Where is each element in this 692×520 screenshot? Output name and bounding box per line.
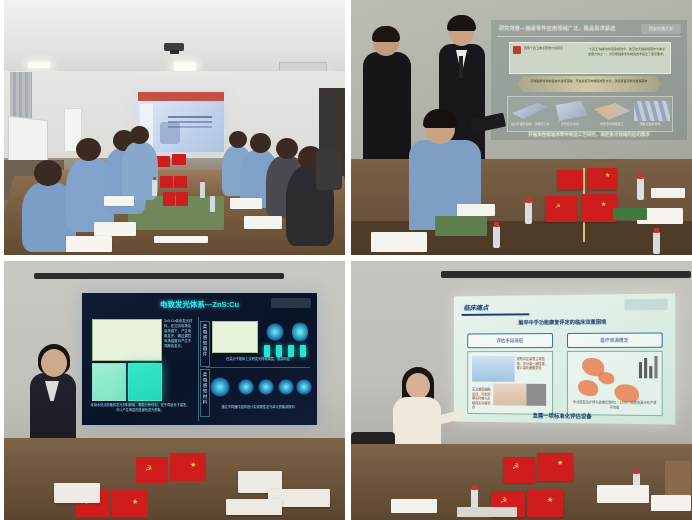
paper-document [457, 204, 495, 216]
slide-footer: 急需一项标准化评估设备 [454, 411, 675, 422]
university-logo: 西安交通大学 [641, 24, 681, 34]
screen-text-lines [168, 116, 212, 118]
star-icon: ★ [601, 202, 606, 208]
photo-top-left [4, 0, 345, 255]
paper-document [391, 499, 437, 513]
national-flag: ★ [170, 453, 206, 481]
spectrum-chart [92, 319, 162, 361]
projected-slide: 电致发光体系—ZnS:Cu ZnS:Cu体系发光材料，在交流电场及高场强下，产生… [82, 293, 317, 425]
national-flag: ★ [587, 168, 617, 190]
hair [447, 15, 476, 31]
paper-document [651, 188, 685, 198]
slide-panel-left: 现有评定量表主观性强，评分者一致性差，难以量化细微变化 无法捕捉细微运动，评定周… [467, 351, 553, 415]
emission-bar [300, 345, 306, 357]
paper-document [104, 196, 134, 206]
callout-title: 国家十四五重点研发计划项目 [524, 46, 563, 50]
slide-title: 研究背景—轴承零件应用领域广泛，极品需求紧迫 [499, 25, 616, 32]
luminescence-image-5khz [128, 363, 162, 401]
slide-tab-left: 评估手段滞后 [467, 333, 553, 348]
header-underline [462, 313, 530, 316]
university-logo [625, 299, 668, 311]
part-image [594, 101, 630, 121]
screen-figure [160, 122, 180, 144]
bar-chart-bar [644, 358, 647, 378]
map-region [578, 380, 598, 396]
part-image [512, 101, 548, 121]
part-image [552, 101, 588, 121]
water-bottle [493, 226, 500, 248]
slide-subtitle: 脑卒中手功能康复评定的临床双重困境 [454, 318, 675, 327]
desk-flag [156, 156, 170, 167]
emblem-icon [513, 46, 521, 54]
party-flag [557, 170, 583, 190]
ceiling-projector [164, 43, 184, 51]
slide-left-caption: 采用水热法制备的发光材料粉体，颗粒分布均匀，在不同波长下激发，可以产生明显的蓝绿… [90, 403, 190, 413]
necktie [459, 56, 463, 78]
party-flag: ☭ [503, 457, 535, 483]
water-bottle [200, 182, 205, 198]
paper-document [244, 216, 282, 229]
paper-document [154, 236, 208, 243]
panel-note-bottom: 无法捕捉细微运动，评定周期长时难以反映真实功能状态 [472, 387, 493, 410]
national-flag: ★ [112, 489, 148, 517]
paper-document [230, 198, 262, 209]
slide-footer: 开展高性能轴承零件制造工艺研究，满足重点领域的迫切需求 [501, 132, 677, 138]
water-bottle [525, 202, 532, 224]
screen-rail [34, 273, 284, 279]
university-logo [271, 298, 311, 308]
national-flag: ★ [581, 194, 617, 222]
clinical-illustration [472, 356, 515, 382]
hammer-sickle-icon: ☭ [512, 464, 519, 470]
desk-flag [160, 176, 173, 188]
party-flag: ☭ [136, 457, 168, 483]
blouse-collar [45, 381, 59, 401]
callout-text: “十四五”轴承零件装备规划中，航空航天轴承用钢作为重点发展方向之一，对高端轴承零… [588, 47, 666, 57]
bar-chart-bar [639, 362, 642, 378]
glow-ring [238, 379, 254, 395]
hand-photo [493, 384, 526, 406]
hammer-sickle-icon: ☭ [500, 498, 507, 504]
desk-flag [174, 176, 187, 188]
emission-bar [276, 345, 282, 357]
panel-note-top: 现有评定量表主观性强，评分者一致性差，难以量化细微变化 [517, 357, 548, 371]
title-rule [497, 36, 681, 37]
slide-right-caption-top: 在高分子基体上沉积发光材料薄层，提高响应 [206, 357, 310, 362]
desk-flag-cluster [154, 152, 198, 208]
paper-document [371, 232, 427, 252]
part-image [634, 101, 670, 121]
photo-bottom-right: 临床痛点 脑卒中手功能康复评定的临床双重困境 评估手段滞后 医疗资源匮乏 现有评… [351, 261, 692, 520]
water-bottle [210, 196, 215, 212]
name-card [613, 208, 647, 220]
slide-tab-right: 医疗资源匮乏 [567, 332, 663, 348]
chair [316, 150, 342, 190]
emission-bar [288, 345, 294, 357]
paper-document [94, 222, 136, 236]
slide-left-text: ZnS:Cu体系发光材料，在交流电场及高场强下，产生电致发光，通过调控电场强度可… [164, 319, 194, 349]
star-icon: ★ [547, 498, 553, 504]
slide-right-caption-bottom: 通过不同器件结构设计实现柔性发光单元的集成阵列 [206, 405, 310, 410]
panel-note: 专业康复治疗师与患者比例约1：1200，优质资源分布严重不均衡 [572, 400, 658, 410]
glow-spot [210, 377, 230, 397]
photo-top-right: 研究背景—轴承零件应用领域广泛，极品需求紧迫 西安交通大学 国家十四五重点研发计… [351, 0, 692, 255]
part-caption: 成形零件精密加工 [592, 122, 632, 126]
party-flag: ☭ [545, 196, 577, 222]
photo-collage: 研究背景—轴承零件应用领域广泛，极品需求紧迫 西安交通大学 国家十四五重点研发计… [0, 0, 692, 520]
bar-chart-bar [654, 356, 657, 378]
national-flag: ★ [527, 489, 563, 517]
hammer-sickle-icon: ☭ [555, 204, 560, 210]
star-icon: ★ [132, 498, 138, 506]
part-caption: 异形复杂零件 [550, 122, 590, 126]
head [41, 349, 67, 377]
part-caption: 薄壁长轴类零件 [630, 122, 670, 126]
star-icon: ★ [557, 461, 563, 467]
document-stack [226, 499, 282, 515]
paper-document [597, 485, 649, 503]
glow-ring [296, 379, 312, 395]
hair [423, 109, 457, 128]
projected-slide: 临床痛点 脑卒中手功能康复评定的临床双重困境 评估手段滞后 医疗资源匮乏 现有评… [454, 293, 675, 424]
luminescence-image-1khz [92, 363, 126, 401]
projection-screen [138, 92, 224, 152]
glow-spot [266, 323, 284, 341]
photo-bottom-left: 电致发光体系—ZnS:Cu ZnS:Cu体系发光材料，在交流电场及高场强下，产生… [4, 261, 345, 520]
desk-flag [172, 154, 186, 165]
water-bottle [653, 232, 660, 254]
slide-divider [206, 367, 310, 368]
document-stack [54, 483, 100, 503]
water-bottle [152, 180, 157, 196]
water-bottle [637, 178, 644, 200]
national-flag: ★ [537, 453, 573, 481]
slide-item-panel: 台阶形锥形轴体、薄壁筒工件 异形复杂零件 成形零件精密加工 薄壁长轴类零件 [507, 96, 673, 132]
glow-ring [278, 379, 294, 395]
ceiling-light [174, 62, 196, 71]
slide-divider [198, 317, 199, 421]
slide-callout-box: 国家十四五重点研发计划项目 “十四五”轴承零件装备规划中，航空航天轴承用钢作为重… [509, 42, 671, 74]
emission-bar [264, 345, 270, 357]
paper-document [651, 495, 691, 511]
part-caption: 台阶形锥形轴体、薄壁筒工件 [510, 122, 550, 126]
desk-flag [176, 192, 188, 206]
map-region [598, 372, 614, 384]
star-icon: ★ [190, 461, 196, 469]
desk-flag [163, 192, 175, 206]
hammer-sickle-icon: ☭ [145, 464, 152, 473]
head [406, 373, 430, 399]
slide-header: 临床痛点 [463, 302, 488, 312]
bar-chart-bar [649, 366, 652, 378]
paper-document [457, 507, 517, 517]
slide-arrow-banner: 高端轴承零件制造技术亟待突破，开发新型高效精密成形方法，满足装备高端化发展需求 [517, 76, 661, 92]
seated-attendee [665, 461, 691, 495]
screen-rail [441, 271, 691, 278]
screen-header-banner [138, 92, 224, 101]
greyscale-photo [526, 384, 546, 406]
star-icon: ★ [605, 173, 610, 179]
hair [372, 26, 400, 42]
table-runner [435, 216, 487, 236]
slide-panel-right: 专业康复治疗师与患者比例约1：1200，优质资源分布严重不均衡 [567, 351, 663, 416]
glow-spot [292, 321, 308, 343]
projected-slide: 研究背景—轴承零件应用领域广泛，极品需求紧迫 西安交通大学 国家十四五重点研发计… [491, 20, 687, 140]
device-schematic [212, 321, 258, 353]
paper-document [66, 236, 112, 252]
glow-ring [258, 379, 274, 395]
ceiling-light [28, 62, 50, 68]
